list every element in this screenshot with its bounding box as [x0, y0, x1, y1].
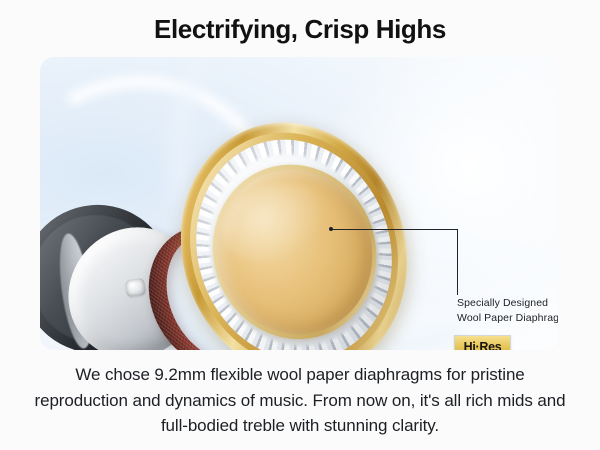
hi-res-audio-wireless-badge: Hi·Res AUDIO WIRELESS [454, 335, 511, 350]
hi-res-badge-title: Hi·Res [455, 336, 510, 350]
callout-line-2: Wool Paper Diaphragm [457, 311, 558, 326]
callout-label: Specially Designed Wool Paper Diaphragm [457, 296, 558, 326]
hero-product-panel: Specially Designed Wool Paper Diaphragm … [40, 57, 558, 350]
page-title: Electrifying, Crisp Highs [0, 13, 600, 45]
leader-line-vertical [457, 229, 458, 295]
leader-line-horizontal [332, 229, 458, 230]
callout-line-1: Specially Designed [457, 296, 558, 311]
body-paragraph: We chose 9.2mm flexible wool paper diaph… [30, 362, 570, 439]
